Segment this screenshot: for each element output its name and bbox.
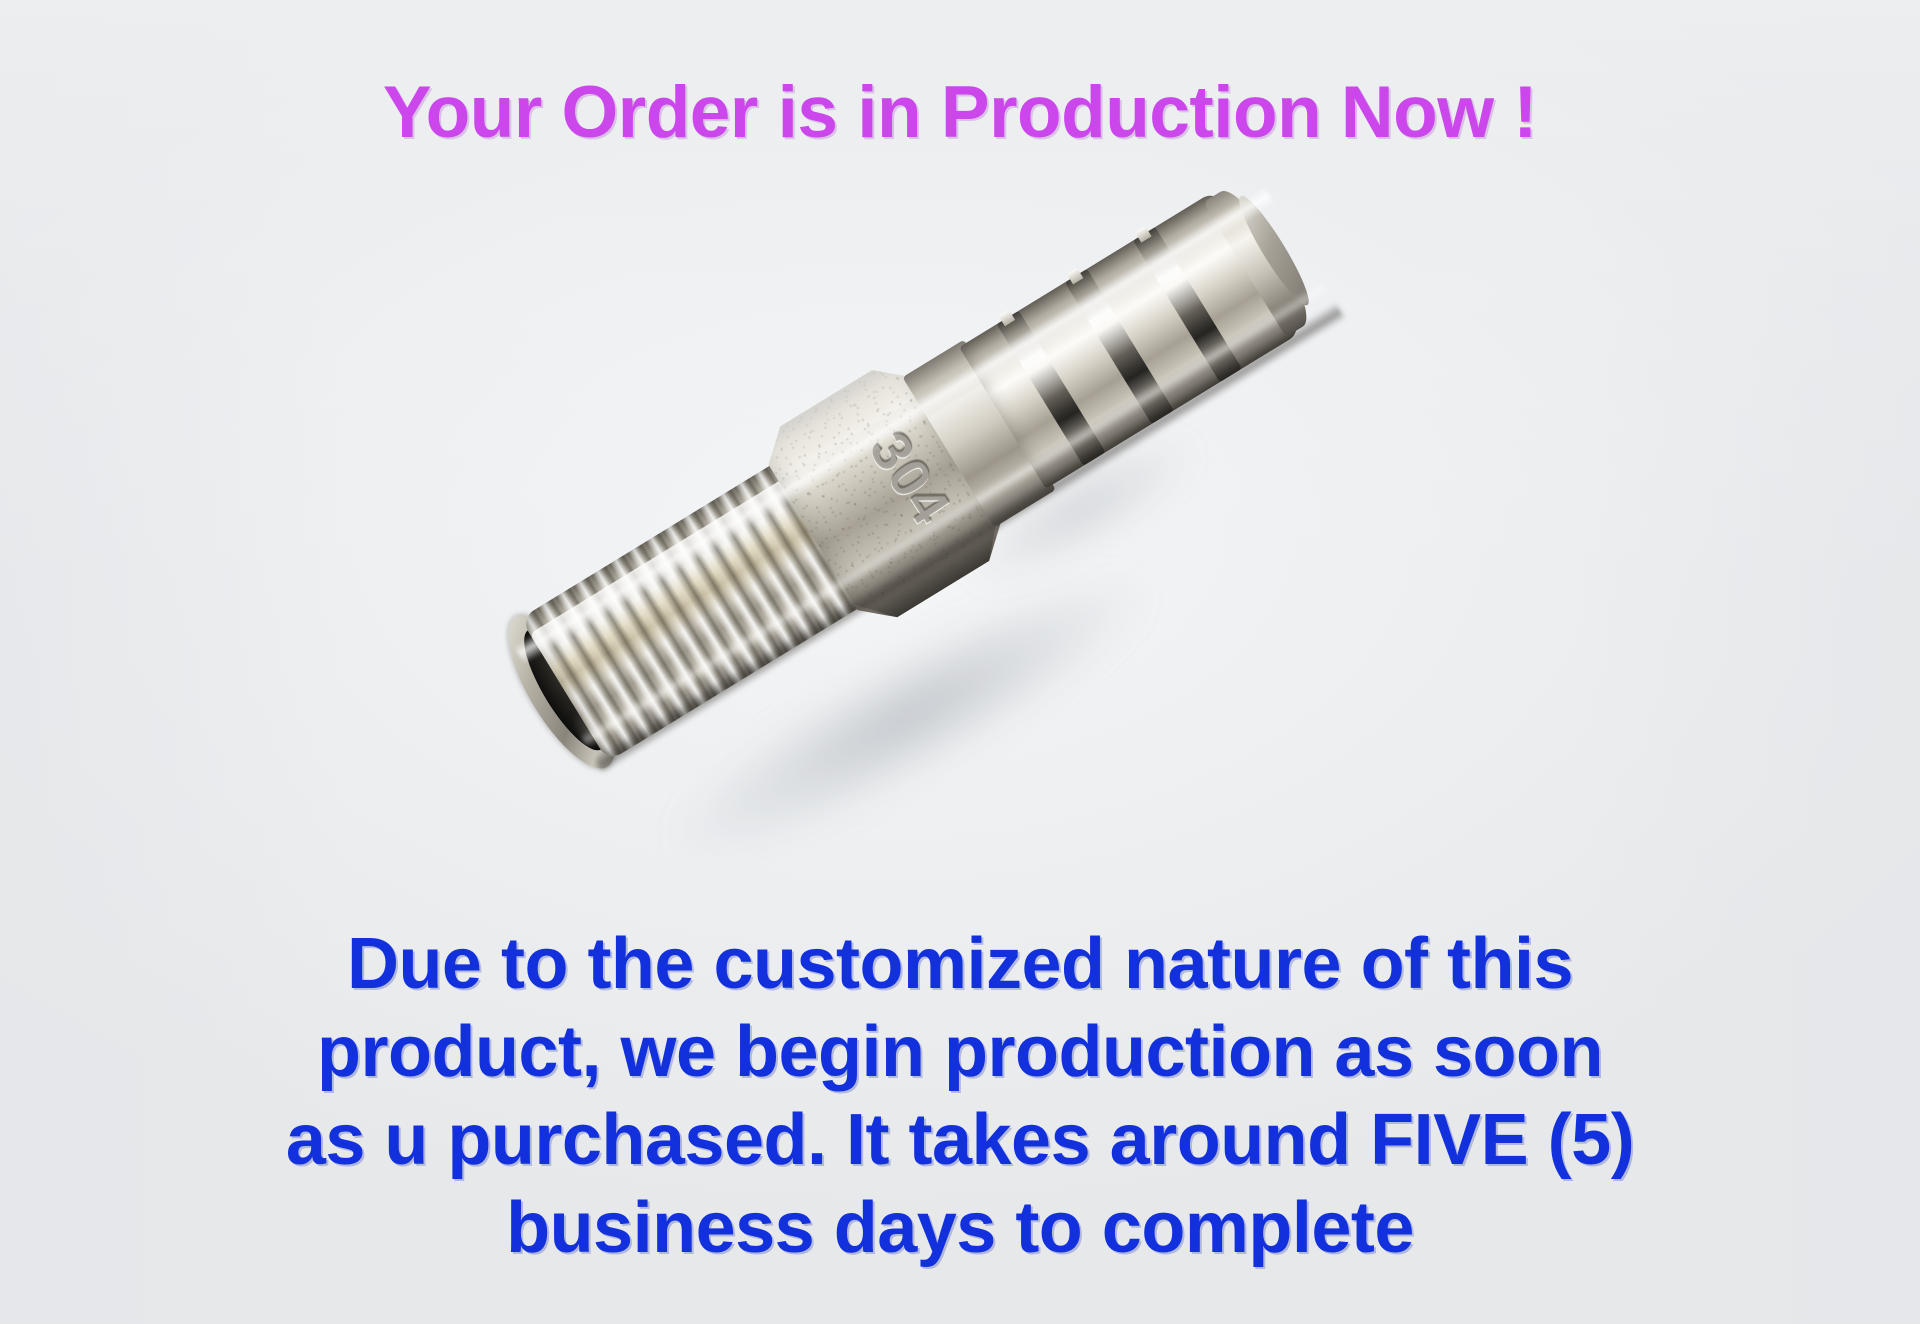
notice-line-1: Due to the customized nature of this bbox=[0, 920, 1920, 1008]
production-notice: Due to the customized nature of this pro… bbox=[0, 920, 1920, 1272]
notice-line-2: product, we begin production as soon bbox=[0, 1008, 1920, 1096]
promo-banner: Your Order is in Production Now ! 304 bbox=[0, 0, 1920, 1324]
notice-line-3: as u purchased. It takes around FIVE (5) bbox=[0, 1096, 1920, 1184]
notice-line-4: business days to complete bbox=[0, 1184, 1920, 1272]
page-title: Your Order is in Production Now ! bbox=[0, 76, 1920, 149]
